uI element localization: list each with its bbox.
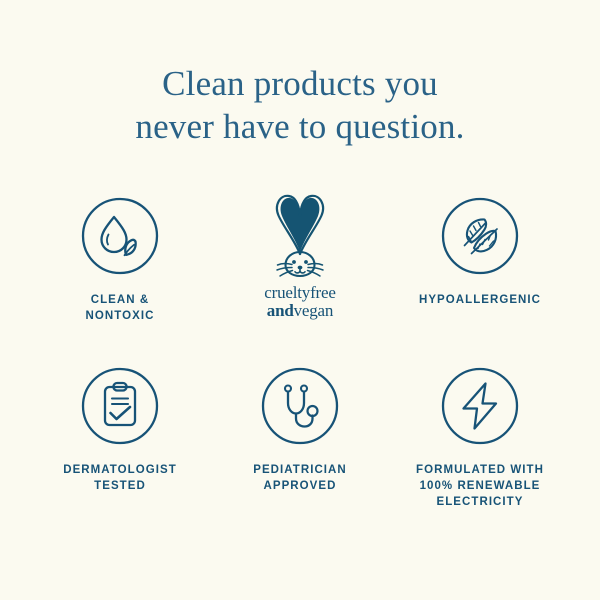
badge-pediatrician-approved: PEDIATRICIAN APPROVED [210,366,390,510]
cruelty-free-bunny-icon: crueltyfree andvegan [245,190,355,320]
badge-label: CLEAN & NONTOXIC [86,292,155,324]
logo-line-2-rest: vegan [294,301,334,320]
promo-panel: Clean products you never have to questio… [0,0,600,600]
badge-clean-nontoxic: CLEAN & NONTOXIC [30,196,210,366]
logo-line-2: andvegan [264,302,335,320]
badge-hypoallergenic: HYPOALLERGENIC [390,196,570,366]
badge-dermatologist-tested: DERMATOLOGIST TESTED [30,366,210,510]
feathers-icon [440,196,520,276]
badge-label: DERMATOLOGIST TESTED [63,462,177,494]
headline-line-1: Clean products you [162,64,438,103]
lightning-bolt-icon [440,366,520,446]
headline-line-2: never have to question. [0,105,600,148]
logo-line-1: crueltyfree [264,284,335,302]
badge-label: FORMULATED WITH 100% RENEWABLE ELECTRICI… [416,462,544,510]
badge-cruelty-free-vegan: crueltyfree andvegan CRUELTY FREE AND VE… [210,196,390,366]
cruelty-free-logo-text: crueltyfree andvegan [264,284,335,320]
badge-label: PEDIATRICIAN APPROVED [253,462,347,494]
logo-line-2-bold: and [267,301,294,320]
clipboard-check-icon [80,366,160,446]
badge-renewable-electricity: FORMULATED WITH 100% RENEWABLE ELECTRICI… [390,366,570,510]
page-title: Clean products you never have to questio… [0,62,600,148]
droplet-leaf-icon [80,196,160,276]
stethoscope-icon [260,366,340,446]
badge-grid: CLEAN & NONTOXIC [30,196,570,510]
badge-label: HYPOALLERGENIC [419,292,541,308]
